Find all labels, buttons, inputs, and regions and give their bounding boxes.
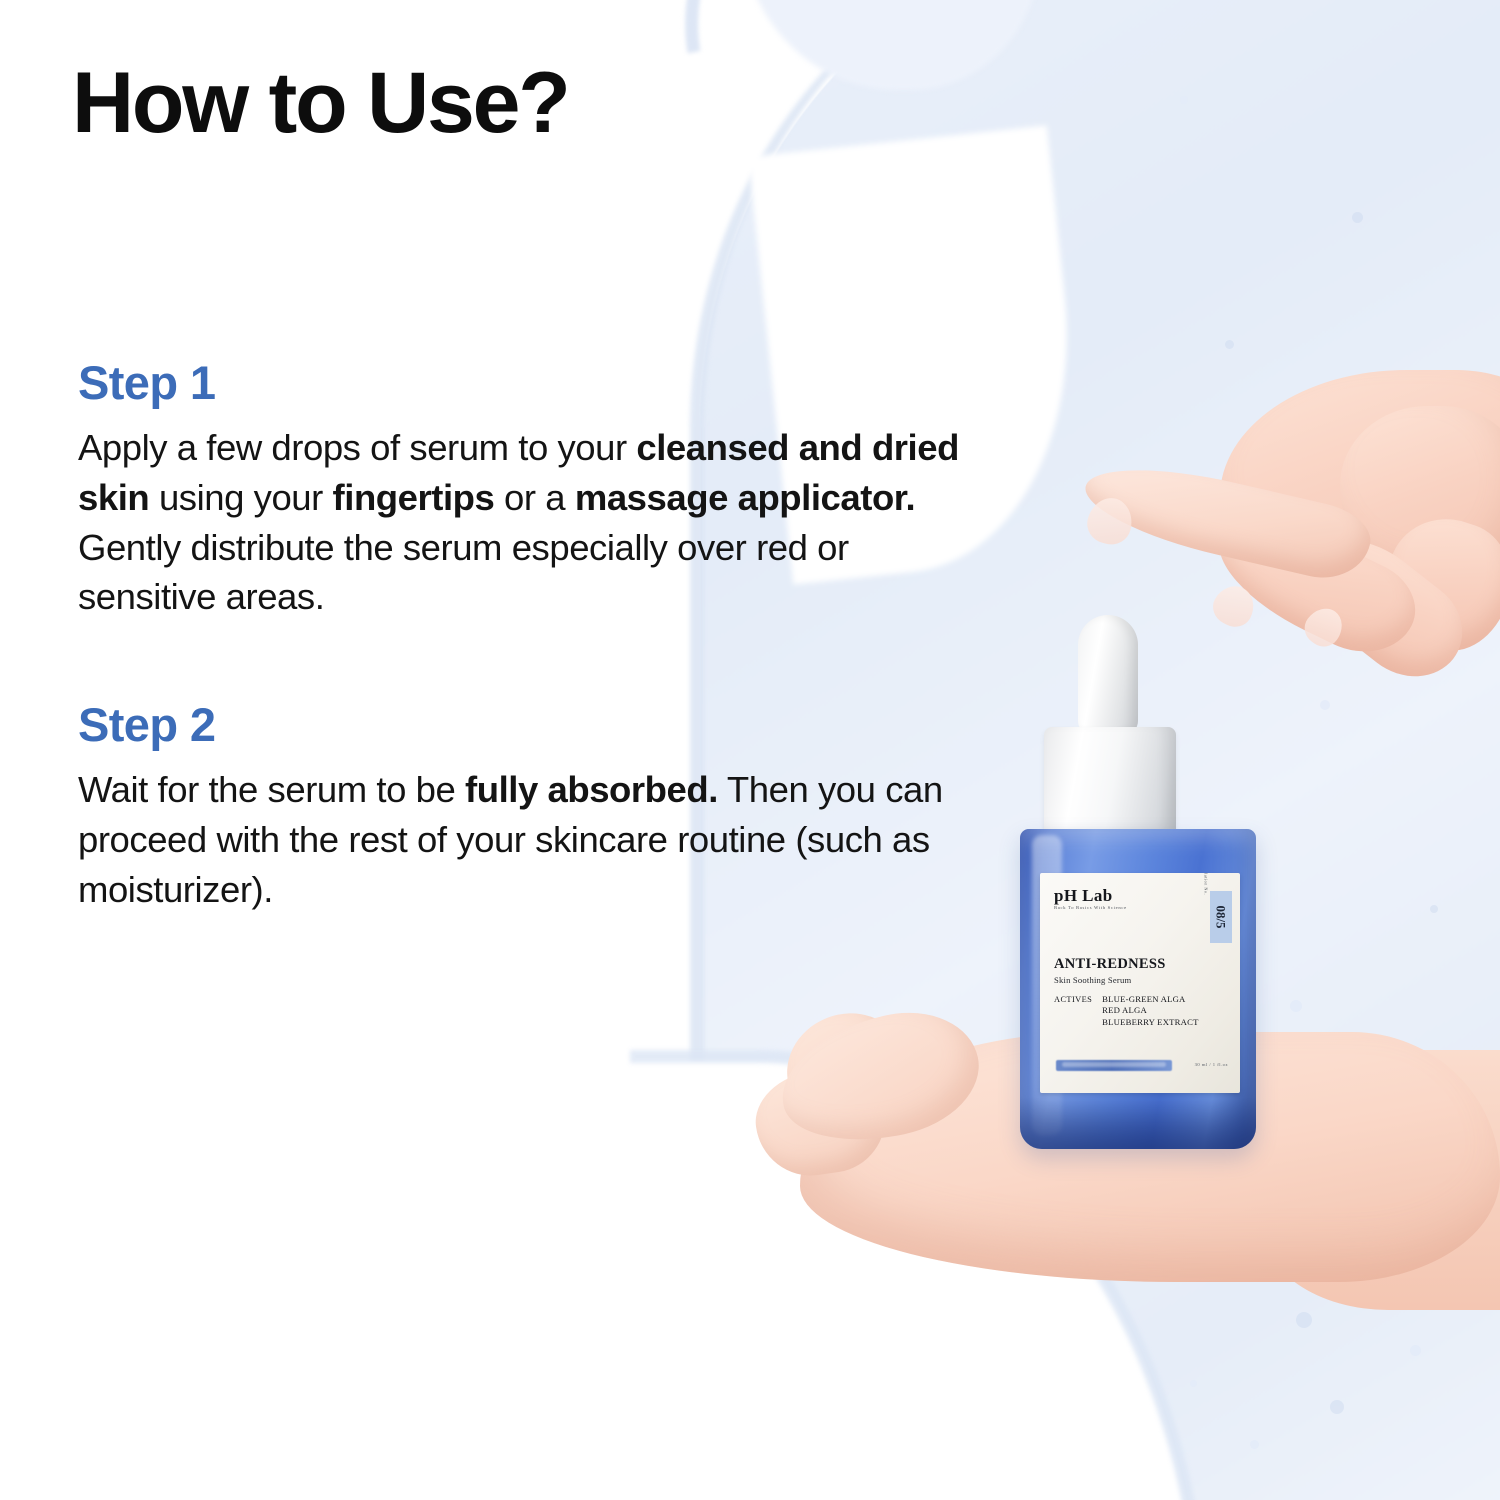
step-1-body: Apply a few drops of serum to your clean…	[78, 423, 968, 622]
step-2-heading: Step 2	[78, 700, 978, 749]
content-layer: How to Use? Step 1 Apply a few drops of …	[0, 0, 1500, 1500]
step-1-heading: Step 1	[78, 358, 978, 407]
page-title: How to Use?	[72, 60, 569, 146]
step-2-block: Step 2 Wait for the serum to be fully ab…	[78, 700, 978, 914]
step-2-body: Wait for the serum to be fully absorbed.…	[78, 765, 968, 914]
step-1-block: Step 1 Apply a few drops of serum to you…	[78, 358, 978, 622]
